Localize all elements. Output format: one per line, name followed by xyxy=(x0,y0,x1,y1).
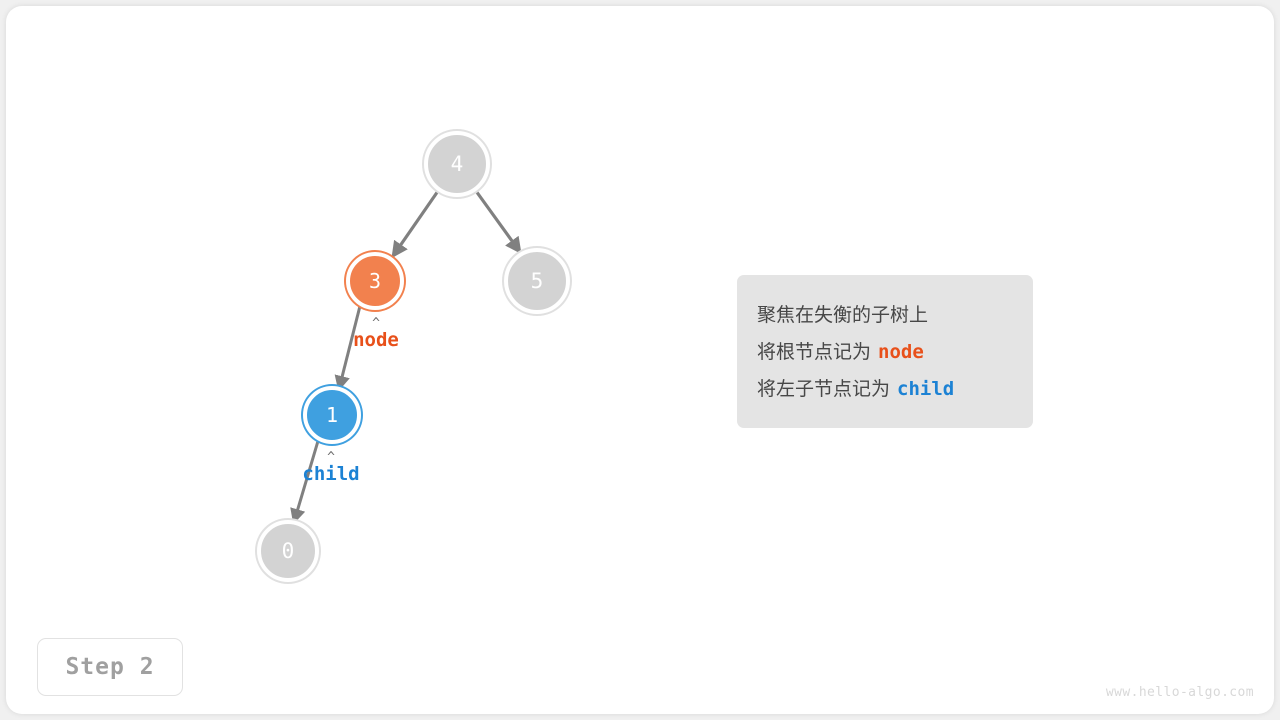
tree-node-5[interactable]: 5 xyxy=(504,248,570,314)
caption-line-2: 将根节点记为node xyxy=(757,334,1009,371)
tree-node-1[interactable]: 1 xyxy=(303,386,361,444)
caption-line-3-code: child xyxy=(890,378,954,400)
tree-node-4-value: 4 xyxy=(451,154,464,175)
edge-4-5 xyxy=(476,191,520,252)
screenshot-canvas: 4 3 5 1 0 ^ node ^ child 聚焦在失衡的子树上 将根节点记… xyxy=(0,0,1280,720)
caption-line-3: 将左子节点记为child xyxy=(757,371,1009,408)
step-badge: Step 2 xyxy=(37,638,183,696)
pointer-child: ^ child xyxy=(286,454,376,485)
tree-edges-layer xyxy=(6,6,1274,714)
pointer-label-node: node xyxy=(353,330,399,351)
tree-node-3-value: 3 xyxy=(369,271,381,291)
tree-node-1-value: 1 xyxy=(326,405,338,425)
caption-line-2-code: node xyxy=(871,341,924,363)
caption-box: 聚焦在失衡的子树上 将根节点记为node 将左子节点记为child xyxy=(737,275,1033,428)
diagram-page: 4 3 5 1 0 ^ node ^ child 聚焦在失衡的子树上 将根节点记… xyxy=(6,6,1274,714)
step-badge-label: Step 2 xyxy=(65,654,154,680)
caption-line-3-text: 将左子节点记为 xyxy=(757,378,890,400)
watermark: www.hello-algo.com xyxy=(1106,685,1254,700)
tree-node-3[interactable]: 3 xyxy=(346,252,404,310)
edge-4-3 xyxy=(393,191,438,256)
tree-node-5-value: 5 xyxy=(531,271,544,292)
pointer-node: ^ node xyxy=(340,320,412,351)
tree-node-0-value: 0 xyxy=(282,541,295,562)
tree-node-0[interactable]: 0 xyxy=(257,520,319,582)
caption-line-2-text: 将根节点记为 xyxy=(757,341,871,363)
pointer-label-child: child xyxy=(302,464,359,485)
caption-line-1: 聚焦在失衡的子树上 xyxy=(757,297,1009,334)
tree-node-4[interactable]: 4 xyxy=(424,131,490,197)
